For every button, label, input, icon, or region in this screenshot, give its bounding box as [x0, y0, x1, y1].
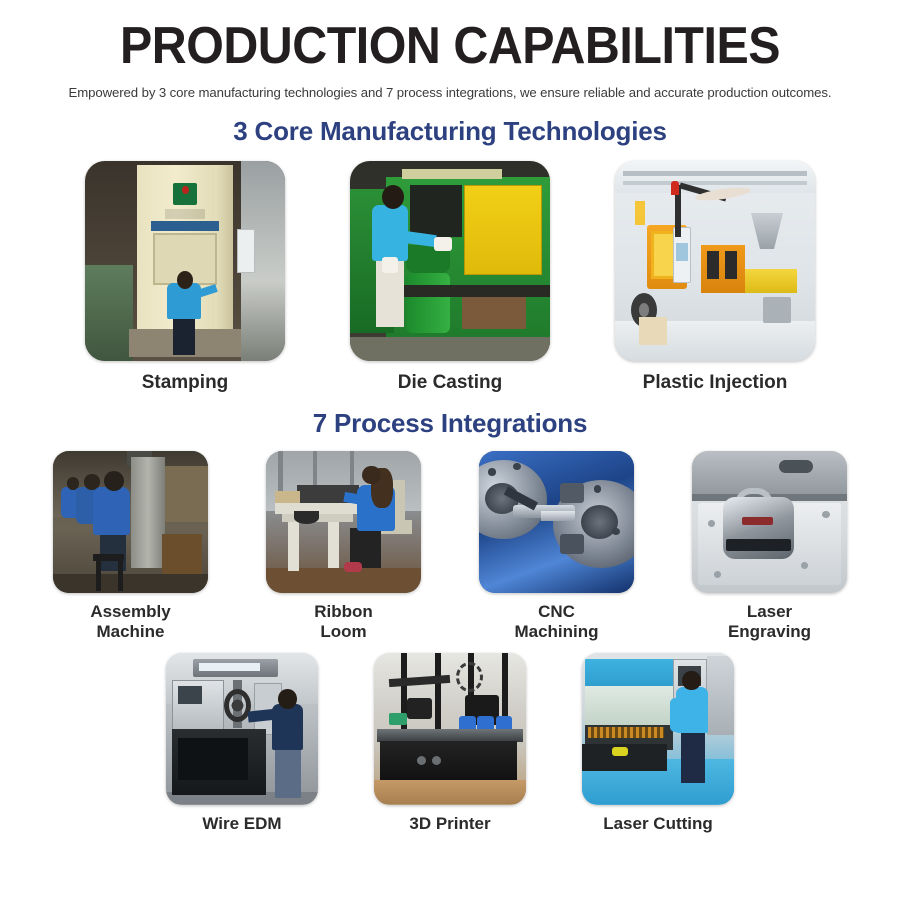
- assembly-machine-photo: [53, 451, 208, 593]
- card-laser-cutting[interactable]: Laser Cutting: [582, 653, 734, 834]
- card-label: 3D Printer: [409, 814, 490, 834]
- card-label: Laser Cutting: [603, 814, 713, 834]
- process-integrations-grid-row-2: Wire EDM 3D Printer: [0, 653, 900, 834]
- card-cnc-machining[interactable]: CNC Machining: [479, 451, 634, 642]
- stamping-photo: [85, 161, 285, 361]
- card-label: Assembly Machine: [90, 602, 170, 642]
- core-technologies-grid: Stamping Die Casting: [0, 161, 900, 394]
- process-integrations-grid-row-1: Assembly Machine Ribbon Loom: [0, 451, 900, 642]
- card-wire-edm[interactable]: Wire EDM: [166, 653, 318, 834]
- card-label: CNC Machining: [514, 602, 598, 642]
- card-label: Stamping: [142, 372, 229, 394]
- laser-engraving-photo: [692, 451, 847, 593]
- card-stamping[interactable]: Stamping: [85, 161, 285, 394]
- laser-cutting-photo: [582, 653, 734, 805]
- cnc-machining-photo: [479, 451, 634, 593]
- card-label: Laser Engraving: [728, 602, 811, 642]
- card-plastic-injection[interactable]: Plastic Injection: [615, 161, 815, 394]
- infographic-page: PRODUCTION CAPABILITIES Empowered by 3 c…: [0, 0, 900, 900]
- card-label: Wire EDM: [202, 814, 281, 834]
- die-casting-photo: [350, 161, 550, 361]
- 3d-printer-photo: [374, 653, 526, 805]
- card-ribbon-loom[interactable]: Ribbon Loom: [266, 451, 421, 642]
- card-label: Plastic Injection: [643, 372, 788, 394]
- card-label: Ribbon Loom: [314, 602, 373, 642]
- card-assembly-machine[interactable]: Assembly Machine: [53, 451, 208, 642]
- section-heading-process-integrations: 7 Process Integrations: [0, 408, 900, 439]
- card-3d-printer[interactable]: 3D Printer: [374, 653, 526, 834]
- card-die-casting[interactable]: Die Casting: [350, 161, 550, 394]
- ribbon-loom-photo: [266, 451, 421, 593]
- plastic-injection-photo: [615, 161, 815, 361]
- page-subtitle: Empowered by 3 core manufacturing techno…: [0, 85, 900, 100]
- card-laser-engraving[interactable]: Laser Engraving: [692, 451, 847, 642]
- section-heading-core-technologies: 3 Core Manufacturing Technologies: [0, 116, 900, 147]
- wire-edm-photo: [166, 653, 318, 805]
- card-label: Die Casting: [398, 372, 503, 394]
- page-title: PRODUCTION CAPABILITIES: [32, 0, 869, 72]
